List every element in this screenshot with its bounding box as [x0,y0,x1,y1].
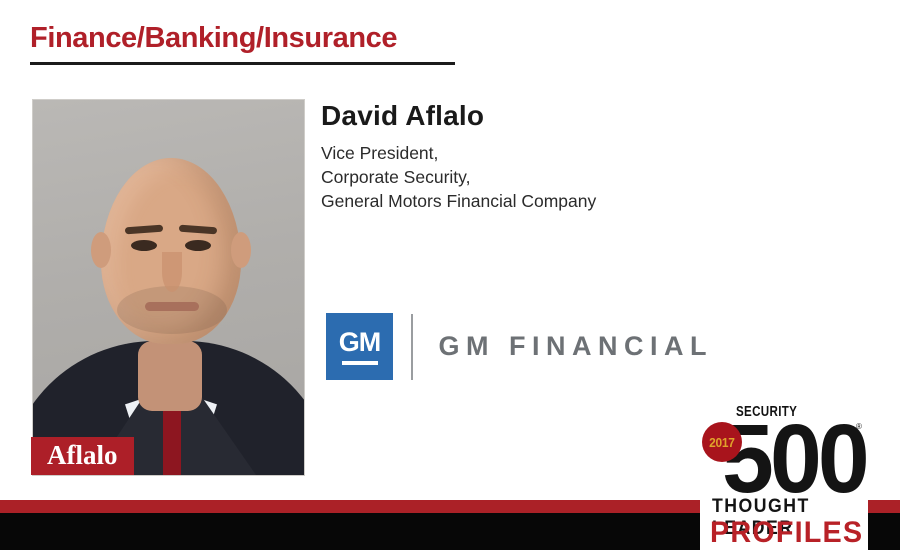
badge-profiles-label: PROFILES [710,516,863,550]
page-title: Finance/Banking/Insurance [30,22,397,55]
portrait-neck [138,341,202,411]
portrait-mouth [145,302,199,311]
gm-logo-underline [342,361,378,365]
person-title-block: Vice President, Corporate Security, Gene… [321,141,596,213]
badge-year-circle: 2017 [702,422,742,462]
title-underline-rule [30,62,455,65]
logo-divider [411,314,413,380]
portrait-eye-left [131,240,157,251]
badge-year-label: 2017 [709,435,735,450]
person-title-line-1: Vice President, [321,141,596,165]
profile-page: Finance/Banking/Insurance Aflalo David A… [0,0,900,550]
portrait-photo [32,99,305,476]
security-500-badge: 2017 SECURITY 500 ® THOUGHT LEADER PROFI… [700,398,868,550]
gm-logo-icon: GM [326,313,393,380]
footer-black-band-left [0,513,700,550]
portrait-eye-right [185,240,211,251]
footer-black-band-right [868,513,900,550]
company-wordmark: GM FINANCIAL [439,331,713,362]
person-title-line-2: Corporate Security, [321,165,596,189]
portrait-nose [162,252,182,292]
badge-number-500: 500 [722,410,866,507]
portrait-ear-left [91,232,111,268]
badge-publication-label: SECURITY [736,404,797,420]
portrait-caption-nameplate: Aflalo [31,437,134,475]
gm-logo-text: GM [339,329,381,356]
footer-red-band-right [868,500,900,513]
company-logo: GM GM FINANCIAL [326,313,713,380]
person-name: David Aflalo [321,100,484,132]
footer-red-band-left [0,500,700,513]
portrait-ear-right [231,232,251,268]
badge-trademark-mark: ® [856,422,862,431]
person-title-line-3: General Motors Financial Company [321,189,596,213]
